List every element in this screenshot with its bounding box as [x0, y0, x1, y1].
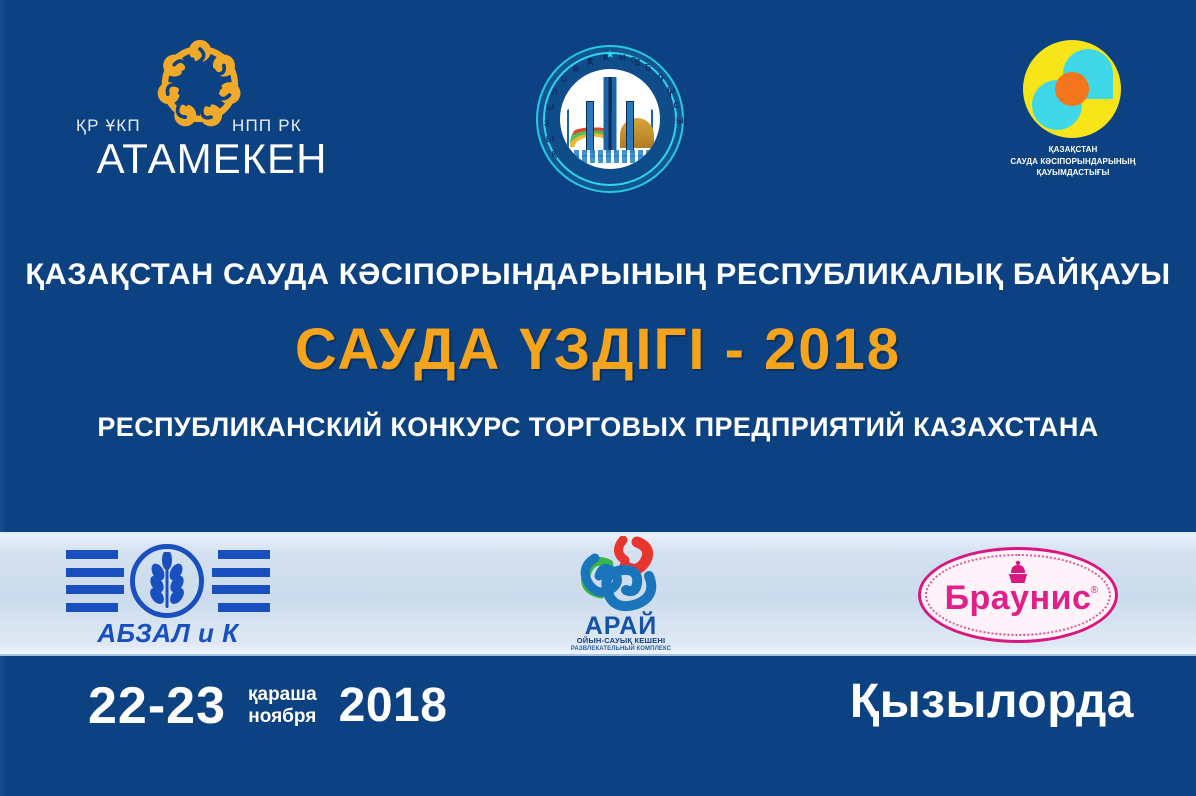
water-icon: [566, 150, 654, 163]
event-year: 2018: [339, 682, 448, 730]
footer: 22-23 қараша ноября 2018 Қызылорда: [0, 656, 1196, 796]
association-caption-line1: ҚАЗАҚСТАН: [1008, 144, 1138, 156]
braunis-logo: Браунис ®: [918, 547, 1118, 643]
logo-row: ҚР ҰКП НПП РК АТАМЕКЕН ★ Қ Ы З Ы Л О Р Д…: [0, 0, 1196, 225]
spiral-swirl-icon: [571, 536, 671, 614]
atameken-logo: ҚР ҰКП НПП РК АТАМЕКЕН: [62, 38, 362, 188]
association-caption-line3: ҚАУЫМДАСТЫҒЫ: [1008, 167, 1138, 179]
atameken-sub-kk: ҚР ҰКП: [76, 116, 141, 136]
event-date: 22-23 қараша ноября 2018: [88, 680, 447, 732]
association-caption-line2: САУДА КӘСІПОРЫНДАРЫНЫҢ: [1008, 156, 1138, 168]
event-poster: ҚР ҰКП НПП РК АТАМЕКЕН ★ Қ Ы З Ы Л О Р Д…: [0, 0, 1196, 796]
monument-tower-icon: [604, 77, 617, 153]
abzal-bars-left: [66, 550, 124, 612]
headline-block: ҚАЗАҚСТАН САУДА КӘСІПОРЫНДАРЫНЫҢ РЕСПУБЛ…: [0, 258, 1196, 443]
yellow-circle-icon: [1023, 40, 1121, 138]
event-month-kk: қараша: [248, 684, 317, 706]
wheat-ear-icon: [145, 552, 189, 610]
orange-dot-icon: [1055, 72, 1089, 106]
event-month: қараша ноября: [248, 684, 317, 728]
aray-subtitle-kk: ОЙЫН-САУЫҚ КЕШЕНІ: [540, 637, 702, 645]
sponsor-band: АБЗАЛ и К АРАЙ ОЙЫН-САУЫҚ КЕШЕНІ РАЗВЛЕК…: [0, 532, 1196, 656]
braunis-wordmark: Браунис: [918, 581, 1118, 615]
braunis-trademark: ®: [1091, 585, 1098, 596]
headline-russian: РЕСПУБЛИКАНСКИЙ КОНКУРС ТОРГОВЫХ ПРЕДПРИ…: [0, 413, 1196, 443]
abzal-circle: [130, 544, 204, 618]
pillar-right-icon: [626, 101, 634, 153]
atameken-sub-ru: НПП РК: [232, 116, 302, 136]
aray-logo: АРАЙ ОЙЫН-САУЫҚ КЕШЕНІ РАЗВЛЕКАТЕЛЬНЫЙ К…: [540, 536, 702, 658]
emblem-scene: [560, 69, 660, 169]
association-caption: ҚАЗАҚСТАН САУДА КӘСІПОРЫНДАРЫНЫҢ ҚАУЫМДА…: [1008, 144, 1138, 179]
abzal-bars-right: [212, 550, 270, 612]
kyzylorda-oblast-emblem: ★ Қ Ы З Ы Л О Р Д А О Б Л Ы С Ы Ә К І М: [536, 45, 684, 193]
abzal-i-k-logo: АБЗАЛ и К: [60, 540, 276, 652]
headline-kazakh: ҚАЗАҚСТАН САУДА КӘСІПОРЫНДАРЫНЫҢ РЕСПУБЛ…: [0, 258, 1196, 291]
aray-subtitle-ru: РАЗВЛЕКАТЕЛЬНЫЙ КОМПЛЕКС: [540, 646, 702, 653]
spire-icon: [609, 81, 612, 111]
abzal-wordmark: АБЗАЛ и К: [60, 620, 276, 646]
event-days: 22-23: [88, 680, 226, 732]
atameken-wordmark: АТАМЕКЕН: [62, 138, 362, 180]
event-month-ru: ноября: [248, 706, 317, 728]
trade-association-logo: ҚАЗАҚСТАН САУДА КӘСІПОРЫНДАРЫНЫҢ ҚАУЫМДА…: [1008, 40, 1138, 192]
pillar-left-icon: [586, 101, 594, 153]
event-city: Қызылорда: [850, 678, 1134, 726]
page-title: САУДА ҮЗДІГІ - 2018: [0, 321, 1196, 379]
